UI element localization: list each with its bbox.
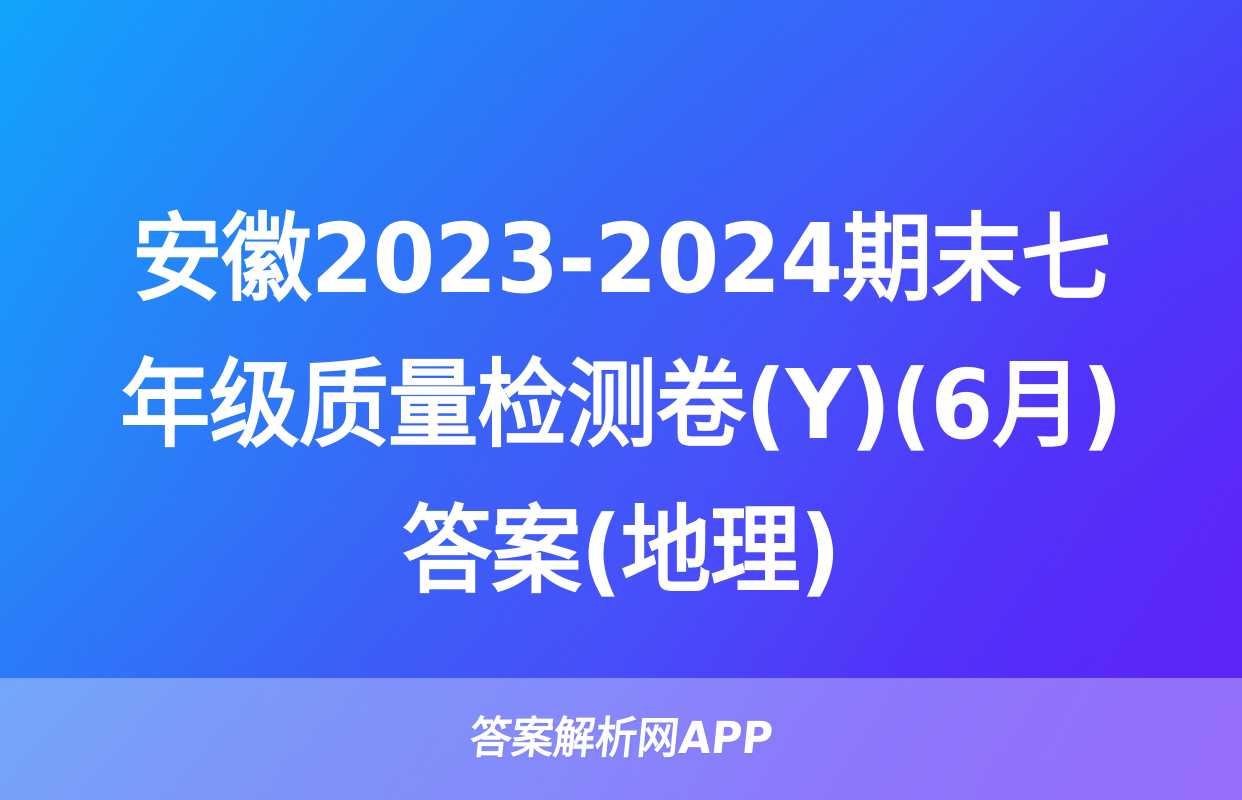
page-title: 安徽2023-2024期末七 年级质量检测卷(Y)(6月) 答案(地理) [0,186,1242,606]
title-line-1: 安徽2023-2024期末七 [60,186,1182,332]
title-line-2: 年级质量检测卷(Y)(6月) [60,332,1182,478]
title-line-3: 答案(地理) [60,478,1182,624]
footer-watermark-strip: 答案解析网APP [0,678,1242,800]
cover-card: 安徽2023-2024期末七 年级质量检测卷(Y)(6月) 答案(地理) 答案解… [0,0,1242,800]
watermark-label: 答案解析网APP [467,717,774,761]
